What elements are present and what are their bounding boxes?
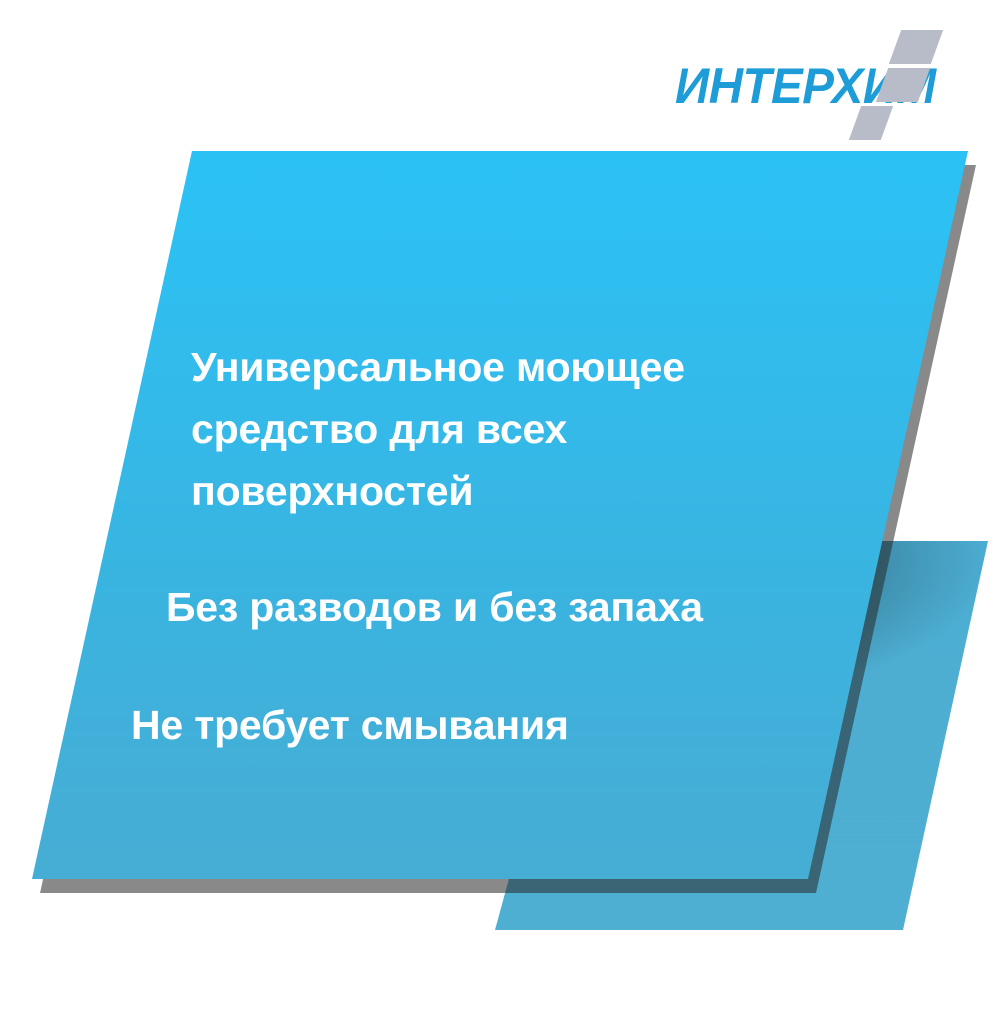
headline-primary: Универсальное моющее средство для всех п… [191, 336, 831, 522]
promo-banner: Универсальное моющее средство для всех п… [0, 0, 1000, 1000]
headline-tertiary: Не требует смывания [131, 698, 831, 752]
headline-group: Универсальное моющее средство для всех п… [0, 0, 1000, 1000]
headline-secondary: Без разводов и без запаха [166, 580, 866, 634]
brand-logo: ИНТЕРХИМ [650, 30, 980, 140]
